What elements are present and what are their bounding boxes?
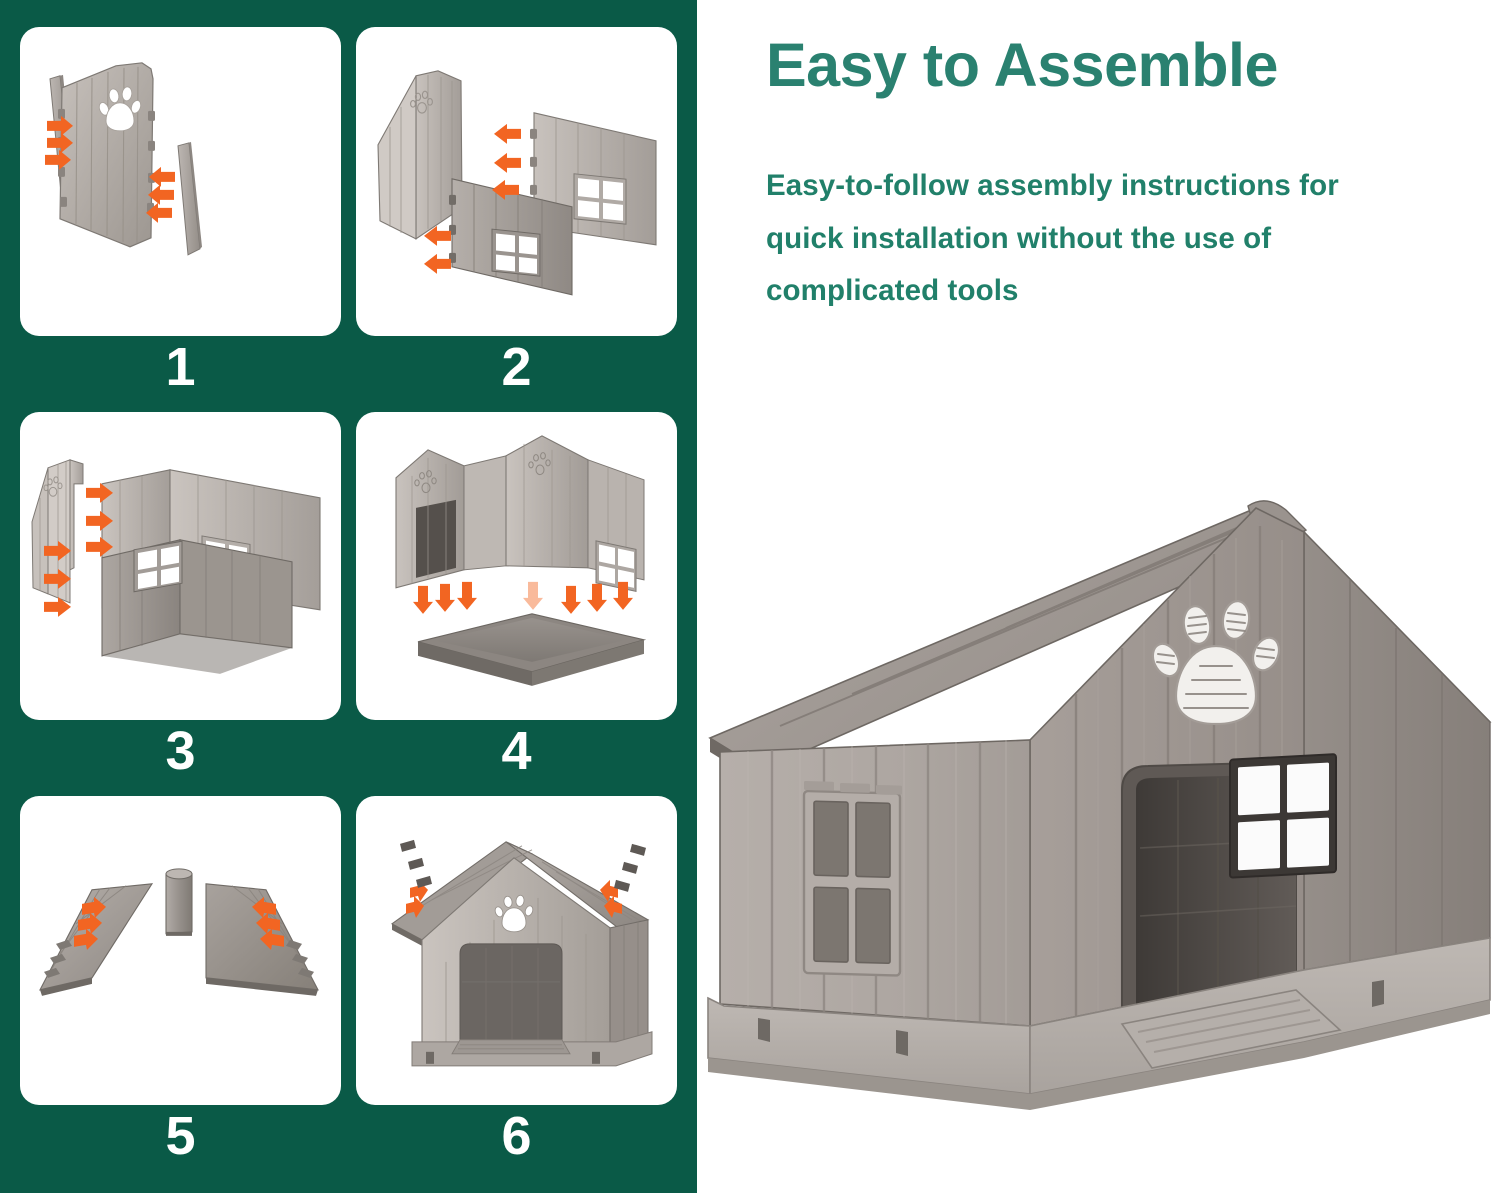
left-side-wall bbox=[720, 740, 1030, 1026]
assembly-steps-panel: 1 bbox=[0, 0, 697, 1193]
step-5-number: 5 bbox=[20, 1105, 341, 1167]
ridge-cap bbox=[166, 869, 192, 936]
steps-grid: 1 bbox=[20, 27, 677, 1167]
window-frame bbox=[574, 174, 626, 224]
interior-window bbox=[1230, 754, 1336, 878]
step-5-illustration bbox=[20, 796, 341, 1105]
gable-panel bbox=[58, 63, 155, 247]
side-window bbox=[804, 781, 902, 976]
side-wall bbox=[610, 920, 648, 1052]
step-3-illustration bbox=[20, 412, 341, 721]
step-2-illustration bbox=[356, 27, 677, 336]
subtitle-line-3: complicated tools bbox=[766, 265, 1466, 318]
assembled-dog-house bbox=[700, 470, 1500, 1190]
window-frame bbox=[492, 229, 540, 276]
trim-rail-right bbox=[178, 142, 202, 255]
infographic-canvas: 1 bbox=[0, 0, 1500, 1197]
step-3[interactable]: 3 bbox=[20, 412, 341, 783]
step-4-illustration bbox=[356, 412, 677, 721]
front-wall-window bbox=[102, 539, 292, 673]
page-title: Easy to Assemble bbox=[766, 33, 1466, 97]
assembly-arrows bbox=[413, 581, 633, 613]
step-1-illustration bbox=[20, 27, 341, 336]
step-1-number: 1 bbox=[20, 336, 341, 398]
step-1[interactable]: 1 bbox=[20, 27, 341, 398]
step-4-number: 4 bbox=[356, 720, 677, 782]
subtitle-line-1: Easy-to-follow assembly instructions for bbox=[766, 160, 1466, 213]
subtitle-line-2: quick installation without the use of bbox=[766, 213, 1466, 266]
step-5[interactable]: 5 bbox=[20, 796, 341, 1167]
step-3-number: 3 bbox=[20, 720, 341, 782]
gable-wall bbox=[378, 71, 462, 239]
window-frame bbox=[134, 541, 182, 591]
step-6-illustration bbox=[356, 796, 677, 1105]
step-4[interactable]: 4 bbox=[356, 412, 677, 783]
floor-base bbox=[418, 613, 644, 685]
step-2[interactable]: 2 bbox=[356, 27, 677, 398]
window-frame bbox=[596, 541, 636, 592]
right-side-wall bbox=[1304, 532, 1490, 970]
wall-assembly bbox=[396, 435, 644, 591]
step-6-number: 6 bbox=[356, 1105, 677, 1167]
step-6[interactable]: 6 bbox=[356, 796, 677, 1167]
step-2-number: 2 bbox=[356, 336, 677, 398]
page-subtitle: Easy-to-follow assembly instructions for… bbox=[766, 160, 1466, 318]
